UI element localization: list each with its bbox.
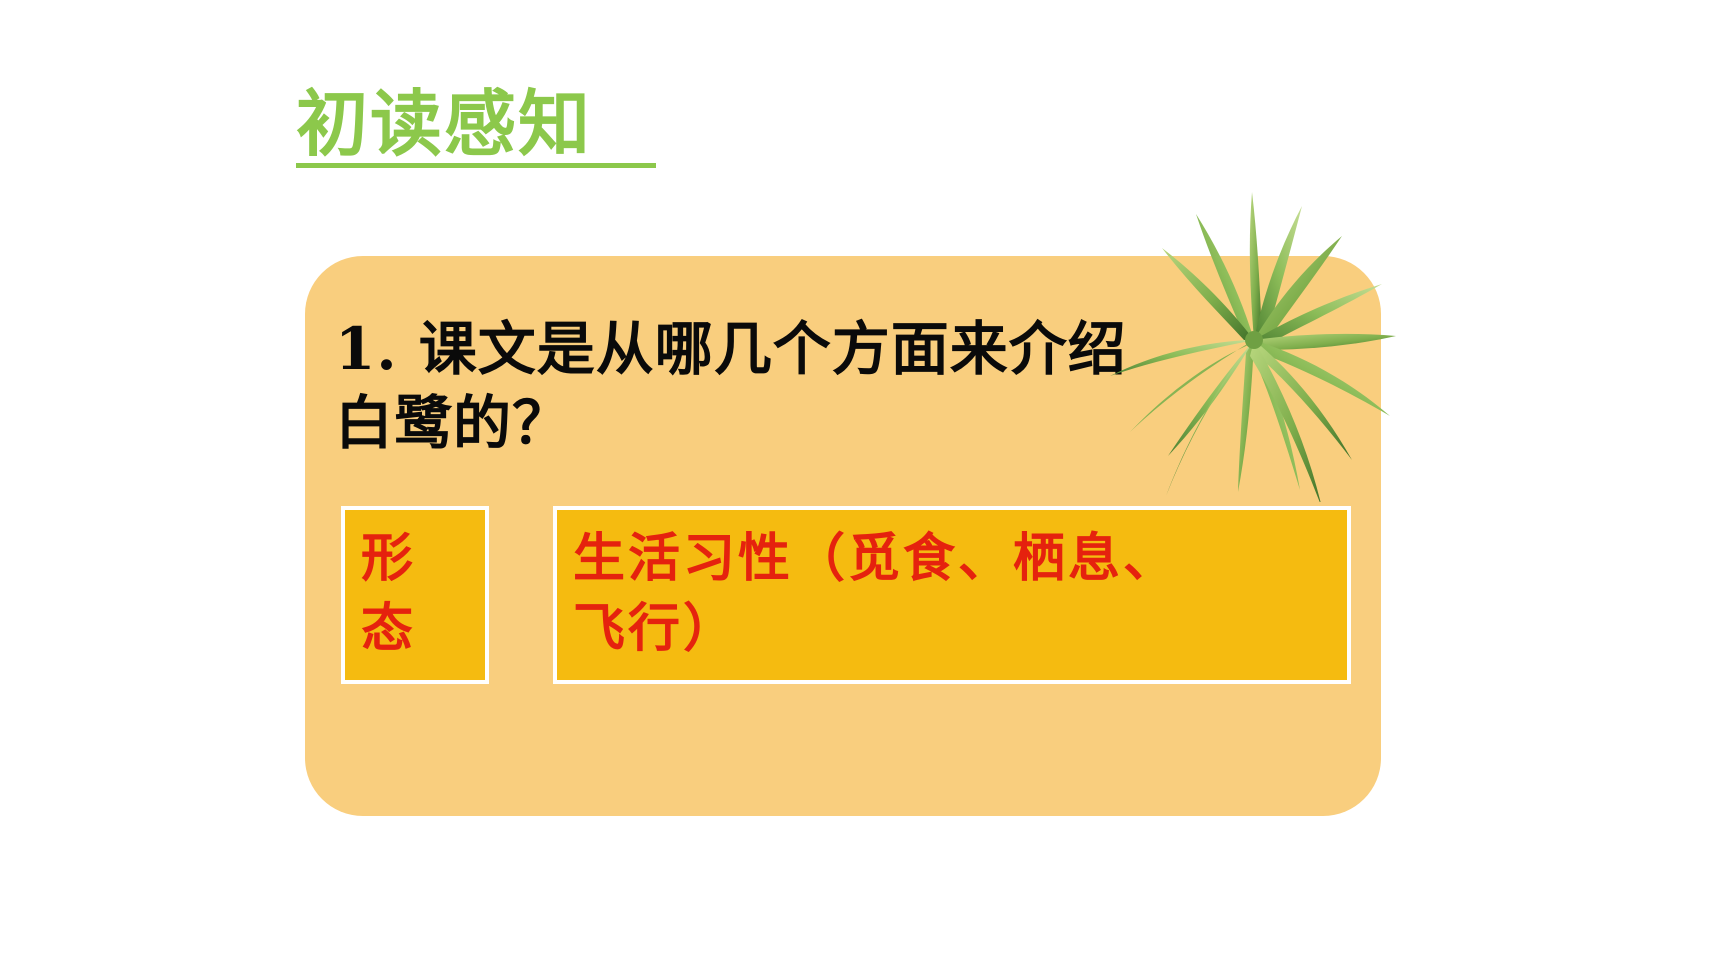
answer-box-habits[interactable]: 生活习性（觅食、栖息、 飞行） [553, 506, 1351, 684]
answer-box-form[interactable]: 形 态 [341, 506, 489, 684]
slide-title-block: 初读感知 [296, 88, 676, 168]
answer-boxes-row: 形 态 生活习性（觅食、栖息、 飞行） [341, 506, 1351, 684]
question-card: 1. 课文是从哪几个方面来介绍 白鹭的？ 形 态 生活习性（觅食、栖息、 飞行） [305, 256, 1381, 816]
question-text: 1. 课文是从哪几个方面来介绍 白鹭的？ [335, 312, 1335, 460]
slide-canvas: 初读感知 1. 课文是从哪几个方面来介绍 白鹭的？ 形 态 生活习性（觅食、栖息… [0, 0, 1728, 972]
page-title: 初读感知 [296, 88, 676, 161]
